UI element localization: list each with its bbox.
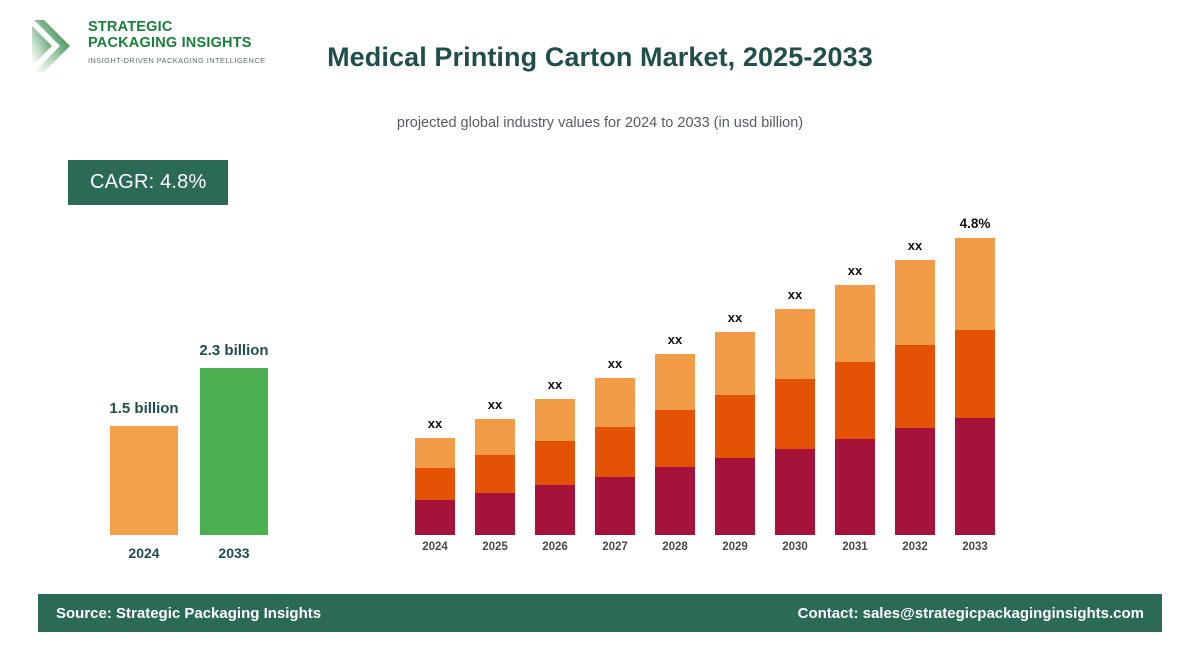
stacked-segment-segment-3 [895, 260, 935, 345]
stacked-segment-segment-2 [655, 410, 695, 467]
stacked-segment-segment-2 [595, 427, 635, 477]
stacked-segment-segment-3 [535, 399, 575, 441]
stacked-bar-category-label: 2024 [422, 541, 448, 553]
stacked-segment-segment-1 [415, 500, 455, 535]
footer-bar: Source: Strategic Packaging Insights Con… [38, 594, 1162, 632]
stacked-segment-segment-1 [535, 485, 575, 535]
stacked-segment-segment-2 [775, 379, 815, 449]
stacked-bar-category-label: 2032 [902, 541, 928, 553]
stacked-bar-value-label: xx [668, 332, 682, 347]
chevron-logo-icon [30, 18, 82, 74]
stacked-bar-category-label: 2027 [602, 541, 628, 553]
stacked-bar-value-label: xx [908, 238, 922, 253]
stacked-segment-segment-1 [475, 493, 515, 535]
brand-logo: STRATEGIC PACKAGING INSIGHTS INSIGHT-DRI… [30, 16, 290, 78]
stacked-segment-segment-1 [835, 439, 875, 535]
stacked-bar-value-label: xx [488, 397, 502, 412]
stacked-segment-segment-2 [475, 455, 515, 493]
stacked-segment-segment-1 [895, 428, 935, 535]
stacked-bar-category-label: 2033 [962, 541, 988, 553]
stacked-segment-segment-2 [415, 468, 455, 500]
stacked-bar-value-label: xx [848, 263, 862, 278]
stacked-bar-value-label: 4.8% [960, 216, 991, 231]
page-subtitle: projected global industry values for 202… [300, 115, 900, 131]
stacked-bar-2030: xx2030 [775, 309, 815, 535]
stacked-segment-segment-2 [835, 362, 875, 439]
stacked-bar-value-label: xx [788, 287, 802, 302]
stacked-bar-value-label: xx [728, 310, 742, 325]
stacked-bar-2031: xx2031 [835, 285, 875, 535]
simple-bar-rect [200, 368, 268, 535]
stacked-bar-category-label: 2030 [782, 541, 808, 553]
stacked-segment-segment-1 [715, 458, 755, 535]
stacked-segment-segment-3 [415, 438, 455, 468]
stacked-segment-segment-2 [715, 395, 755, 458]
stacked-segment-segment-1 [775, 449, 815, 535]
stacked-segment-segment-3 [475, 419, 515, 455]
stacked-bar-category-label: 2031 [842, 541, 868, 553]
stacked-bar-category-label: 2025 [482, 541, 508, 553]
stacked-bar-2026: xx2026 [535, 399, 575, 535]
stacked-segment-segment-3 [955, 238, 995, 330]
simple-bar-2033: 2.3 billion2033 [200, 368, 268, 535]
page-title: Medical Printing Carton Market, 2025-203… [300, 42, 900, 73]
stacked-bar-2025: xx2025 [475, 419, 515, 535]
stacked-segment-segment-2 [895, 345, 935, 428]
stacked-bar-2028: xx2028 [655, 354, 695, 535]
stacked-bar-value-label: xx [548, 377, 562, 392]
simple-bar-category-label: 2033 [218, 545, 249, 561]
stacked-segment-segment-3 [835, 285, 875, 362]
logo-line-2: PACKAGING INSIGHTS [88, 36, 266, 52]
stacked-forecast-chart: xx2024xx2025xx2026xx2027xx2028xx2029xx20… [400, 200, 1010, 560]
simple-bar-rect [110, 426, 178, 535]
stacked-segment-segment-1 [955, 418, 995, 535]
stacked-segment-segment-3 [655, 354, 695, 410]
stacked-segment-segment-1 [595, 477, 635, 535]
cagr-badge: CAGR: 4.8% [68, 160, 228, 205]
footer-contact: Contact: sales@strategicpackaginginsight… [798, 605, 1144, 622]
stacked-segment-segment-3 [715, 332, 755, 395]
logo-tagline: INSIGHT-DRIVEN PACKAGING INTELLIGENCE [88, 56, 266, 65]
stacked-bar-2027: xx2027 [595, 378, 635, 535]
stacked-bar-2033: 4.8%2033 [955, 238, 995, 535]
stacked-bar-value-label: xx [608, 356, 622, 371]
endpoint-comparison-chart: 1.5 billion20242.3 billion2033 [60, 300, 290, 570]
stacked-bar-2032: xx2032 [895, 260, 935, 535]
stacked-segment-segment-3 [775, 309, 815, 379]
stacked-bar-2029: xx2029 [715, 332, 755, 535]
simple-bar-2024: 1.5 billion2024 [110, 426, 178, 535]
stacked-bar-2024: xx2024 [415, 438, 455, 535]
simple-bar-value-label: 1.5 billion [109, 400, 178, 417]
stacked-segment-segment-2 [955, 330, 995, 418]
stacked-bar-category-label: 2029 [722, 541, 748, 553]
stacked-bar-category-label: 2028 [662, 541, 688, 553]
stacked-bar-category-label: 2026 [542, 541, 568, 553]
logo-line-1: STRATEGIC [88, 20, 266, 36]
stacked-segment-segment-2 [535, 441, 575, 485]
simple-bar-category-label: 2024 [128, 545, 159, 561]
footer-source: Source: Strategic Packaging Insights [56, 605, 321, 622]
stacked-segment-segment-3 [595, 378, 635, 427]
stacked-segment-segment-1 [655, 467, 695, 535]
logo-wordmark: STRATEGIC PACKAGING INSIGHTS INSIGHT-DRI… [88, 20, 266, 65]
simple-bar-value-label: 2.3 billion [199, 342, 268, 359]
stacked-bar-value-label: xx [428, 416, 442, 431]
